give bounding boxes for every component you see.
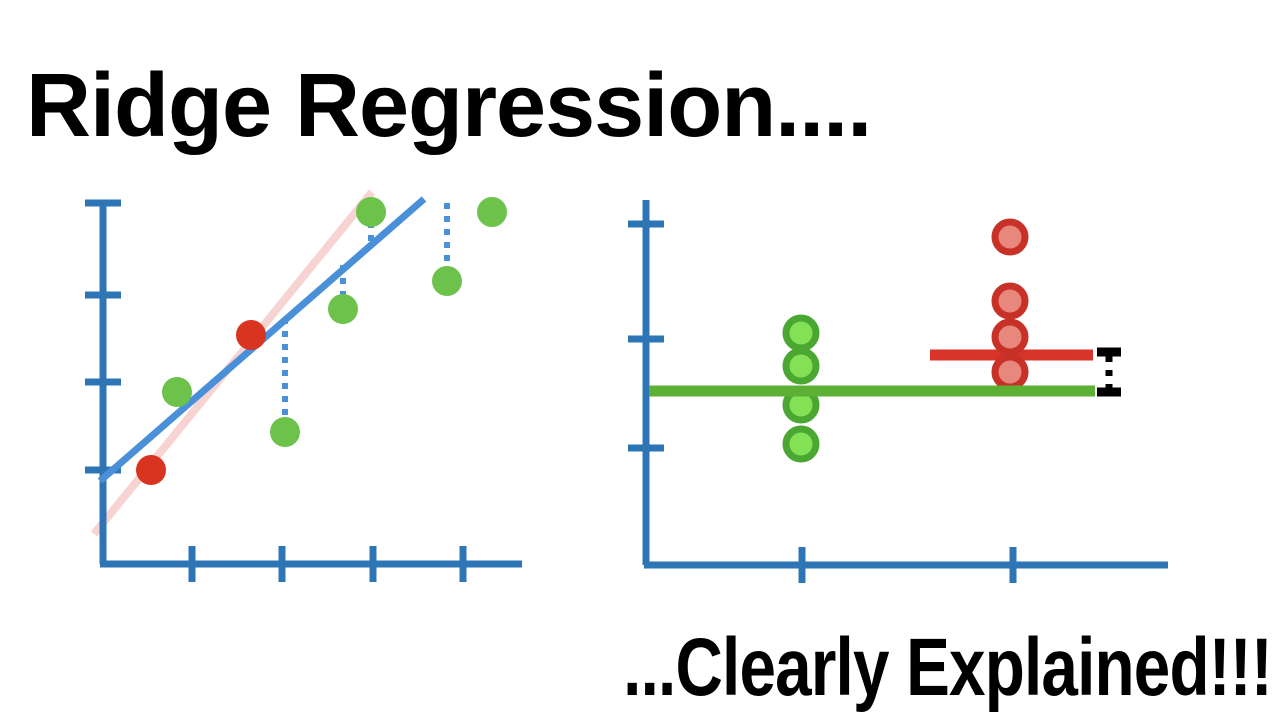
group-a-green-points-dot-0-marker	[786, 318, 816, 348]
right-red-points	[995, 222, 1025, 387]
left-axes	[85, 202, 522, 582]
group-b-red-points-dot-3	[995, 357, 1025, 387]
slide-canvas: Ridge Regression....	[0, 0, 1280, 720]
testing-points-green-dot-3	[356, 197, 386, 227]
group-b-red-points-dot-1	[995, 286, 1025, 316]
group-a-green-points-dot-0	[786, 318, 816, 348]
group-b-red-points-dot-3-marker	[995, 357, 1025, 387]
charts-svg	[0, 0, 1280, 720]
group-a-green-points-dot-1	[786, 351, 816, 381]
group-b-red-points-dot-2	[995, 322, 1025, 352]
testing-points-green-dot-2	[328, 294, 358, 324]
left-panel-chart	[85, 192, 522, 582]
group-a-green-points-dot-3-marker	[786, 429, 816, 459]
testing-points-green-dot-1	[270, 417, 300, 447]
testing-points-green-dot-0	[162, 377, 192, 407]
group-b-red-points-dot-1-marker	[995, 286, 1025, 316]
group-a-green-points-dot-3	[786, 429, 816, 459]
training-points-red-dot-0	[136, 455, 166, 485]
page-subtitle: ...Clearly Explained!!!	[623, 624, 1272, 712]
testing-points-green-dot-5	[477, 197, 507, 227]
group-b-red-points-dot-0	[995, 222, 1025, 252]
group-b-red-points-dot-2-marker	[995, 322, 1025, 352]
group-a-green-points-dot-1-marker	[786, 351, 816, 381]
difference-bracket	[1097, 352, 1121, 392]
training-points-red-dot-1	[236, 320, 266, 350]
right-panel-chart	[628, 200, 1168, 583]
group-b-red-points-dot-0-marker	[995, 222, 1025, 252]
testing-points-green-dot-4	[432, 266, 462, 296]
